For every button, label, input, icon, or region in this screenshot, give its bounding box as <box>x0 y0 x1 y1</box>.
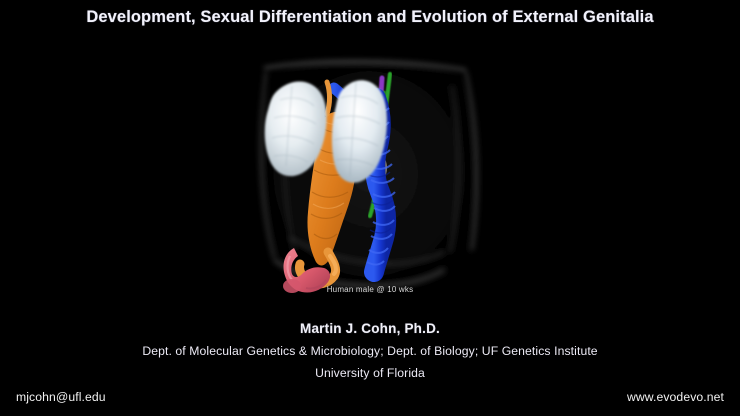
author-name: Martin J. Cohn, Ph.D. <box>0 318 740 340</box>
website-url[interactable]: www.evodevo.net <box>627 390 724 404</box>
affiliation-departments: Dept. of Molecular Genetics & Microbiolo… <box>0 340 740 362</box>
presentation-slide: Development, Sexual Differentiation and … <box>0 0 740 416</box>
urogenital-3d-render <box>230 52 510 302</box>
figure-caption: Human male @ 10 wks <box>230 285 510 294</box>
slide-title: Development, Sexual Differentiation and … <box>0 8 740 27</box>
affiliation-university: University of Florida <box>0 362 740 384</box>
credits-block: Martin J. Cohn, Ph.D. Dept. of Molecular… <box>0 318 740 384</box>
contact-email[interactable]: mjcohn@ufl.edu <box>16 390 106 404</box>
figure-container: Human male @ 10 wks <box>230 52 510 302</box>
